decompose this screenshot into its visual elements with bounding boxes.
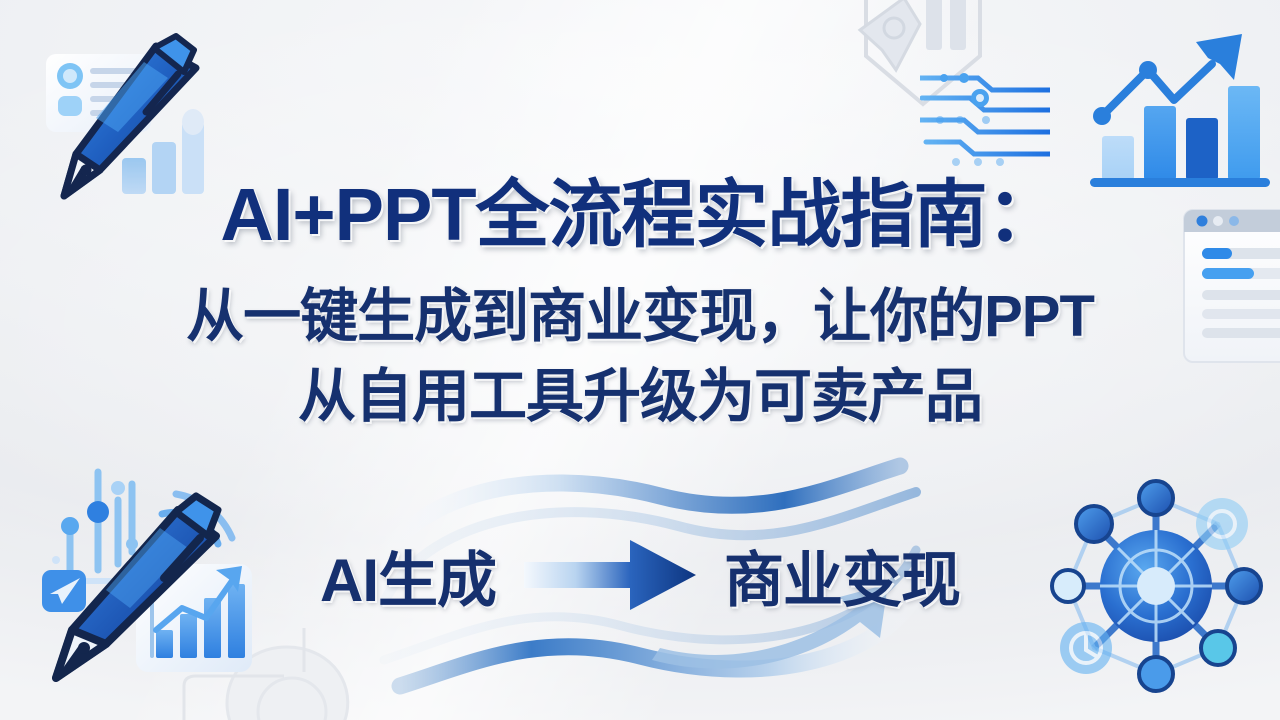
subtitle-line-2: 从自用工具升级为可卖产品 (0, 368, 1280, 426)
flow-row: AI生成 商业变现 (0, 520, 1280, 630)
subtitle-line-1: 从一键生成到商业变现，让你的PPT (0, 288, 1280, 346)
slide-canvas: AI+PPT全流程实战指南： 从一键生成到商业变现，让你的PPT 从自用工具升级… (0, 0, 1280, 720)
page-title: AI+PPT全流程实战指南： (0, 178, 1280, 252)
right-arrow-icon (522, 536, 698, 614)
flow-from-label: AI生成 (320, 532, 496, 619)
flow-to-label: 商业变现 (724, 532, 960, 619)
